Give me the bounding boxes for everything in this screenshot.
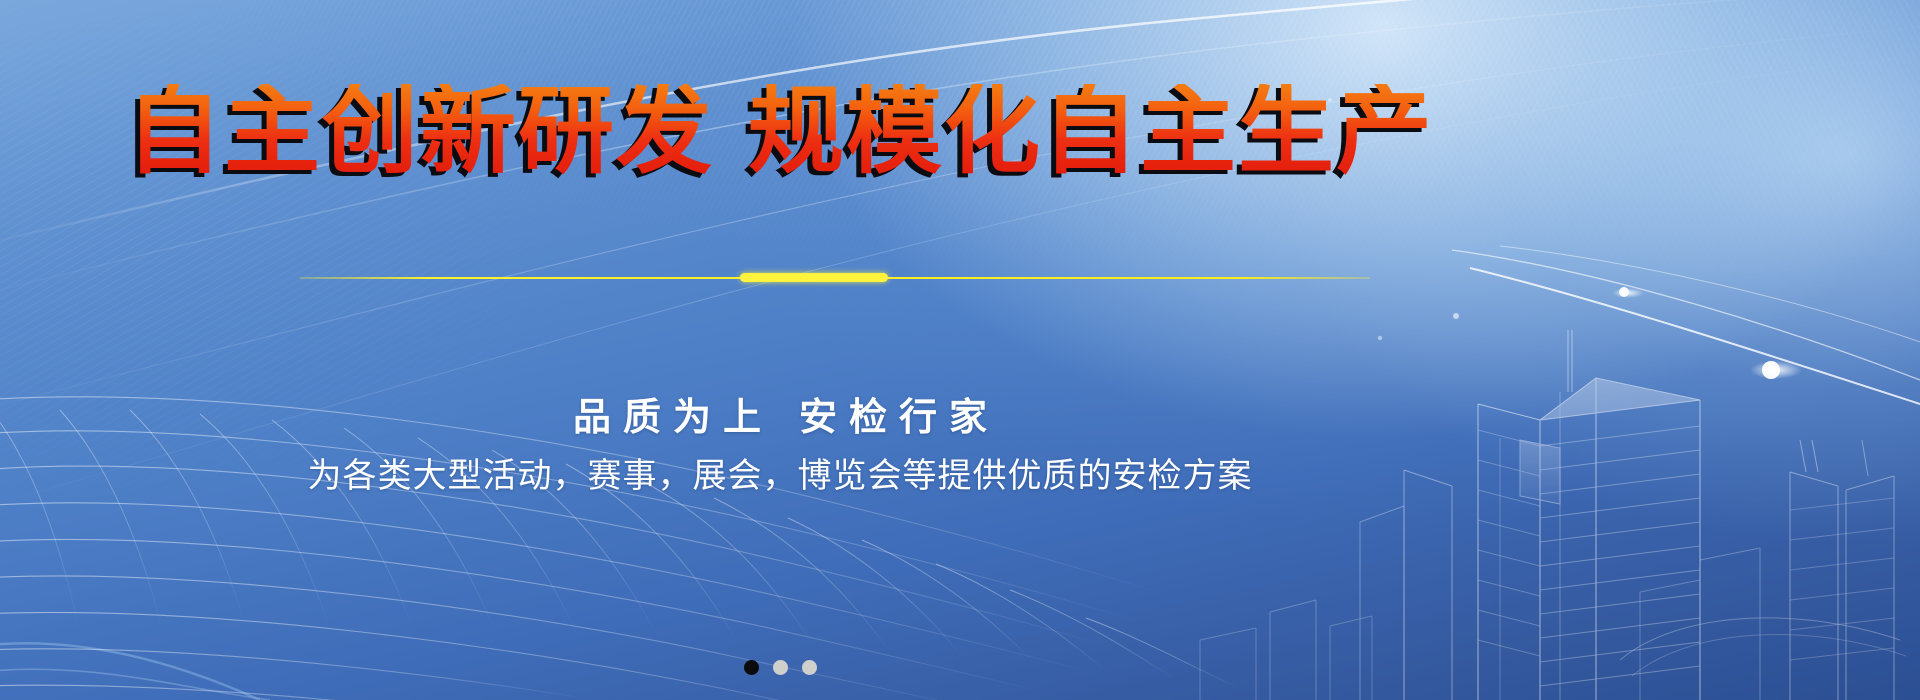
carousel-dot-2[interactable]: [773, 660, 788, 675]
decorative-divider: [0, 270, 1560, 286]
headline-part-left: 自主创新研发: [126, 78, 714, 185]
banner-headline: 自主创新研发规模化自主生产: [0, 84, 1560, 180]
divider-thick-accent: [740, 273, 888, 282]
carousel-dot-nav[interactable]: [0, 660, 1560, 675]
banner-subtitle-primary: 品质为上安检行家: [0, 386, 1560, 441]
carousel-dot-3[interactable]: [802, 660, 817, 675]
carousel-dot-1[interactable]: [744, 660, 759, 675]
hero-banner-carousel[interactable]: 自主创新研发规模化自主生产 品质为上安检行家 为各类大型活动，赛事，展会，博览会…: [0, 0, 1920, 700]
subtitle-primary-part-1: 品质为上: [573, 397, 773, 439]
headline-part-right: 规模化自主生产: [748, 78, 1434, 185]
banner-subtitle-secondary: 为各类大型活动，赛事，展会，博览会等提供优质的安检方案: [0, 448, 1560, 497]
subtitle-primary-part-2: 安检行家: [799, 397, 999, 439]
